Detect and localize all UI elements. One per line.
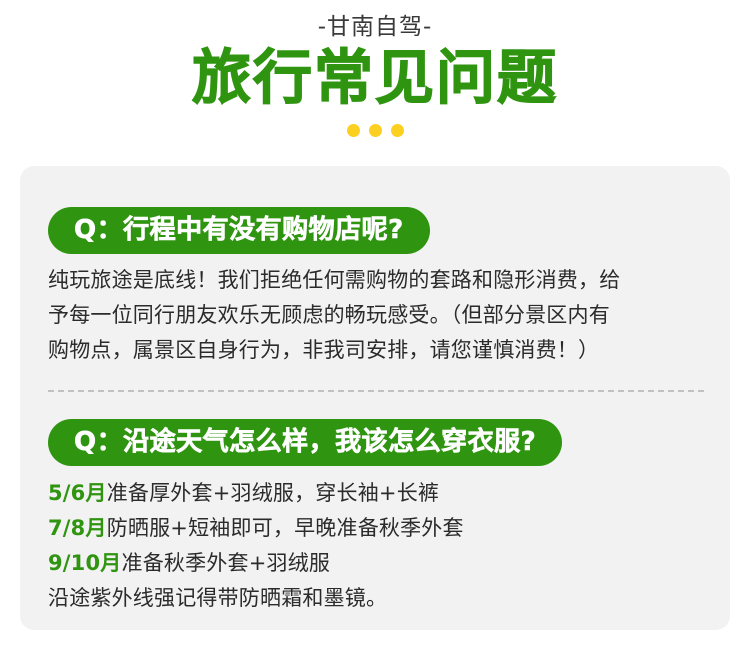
- answer-line: 购物点，属景区自身行为，非我司安排，请您谨慎消费！）: [48, 333, 708, 368]
- answer-line: 5/6月准备厚外套+羽绒服，穿长袖+长裤: [48, 476, 708, 511]
- section-divider: [48, 390, 704, 392]
- decorative-dots: [0, 124, 750, 137]
- page-title: 旅行常见问题: [0, 44, 750, 112]
- answer-line-text: 防晒服+短袖即可，早晚准备秋季外套: [107, 516, 464, 540]
- answer-line-text: 准备秋季外套+羽绒服: [122, 551, 331, 575]
- answer-text-2: 5/6月准备厚外套+羽绒服，穿长袖+长裤 7/8月防晒服+短袖即可，早晚准备秋季…: [48, 476, 708, 616]
- answer-line: 7/8月防晒服+短袖即可，早晚准备秋季外套: [48, 511, 708, 546]
- answer-month-label: 5/6月: [48, 481, 107, 505]
- dot-icon: [391, 124, 404, 137]
- dot-icon: [369, 124, 382, 137]
- dot-icon: [347, 124, 360, 137]
- question-pill-1[interactable]: Q：行程中有没有购物店呢?: [48, 207, 430, 254]
- answer-month-label: 9/10月: [48, 551, 122, 575]
- answer-month-label: 7/8月: [48, 516, 107, 540]
- answer-line: 纯玩旅途是底线！我们拒绝任何需购物的套路和隐形消费，给: [48, 263, 708, 298]
- answer-line: 予每一位同行朋友欢乐无顾虑的畅玩感受。（但部分景区内有: [48, 298, 708, 333]
- answer-text-1: 纯玩旅途是底线！我们拒绝任何需购物的套路和隐形消费，给 予每一位同行朋友欢乐无顾…: [48, 263, 708, 368]
- answer-line-text: 沿途紫外线强记得带防晒霜和墨镜。: [48, 586, 387, 610]
- answer-line: 沿途紫外线强记得带防晒霜和墨镜。: [48, 581, 708, 616]
- page-eyebrow: -甘南自驾-: [0, 12, 750, 42]
- question-pill-2[interactable]: Q：沿途天气怎么样，我该怎么穿衣服?: [48, 419, 562, 466]
- faq-card: Q：行程中有没有购物店呢? 纯玩旅途是底线！我们拒绝任何需购物的套路和隐形消费，…: [20, 166, 730, 630]
- answer-line-text: 纯玩旅途是底线！我们拒绝任何需购物的套路和隐形消费，给: [48, 268, 620, 292]
- answer-line-text: 准备厚外套+羽绒服，穿长袖+长裤: [107, 481, 439, 505]
- page-header: -甘南自驾- 旅行常见问题: [0, 0, 750, 137]
- answer-line: 9/10月准备秋季外套+羽绒服: [48, 546, 708, 581]
- answer-line-text: 予每一位同行朋友欢乐无顾虑的畅玩感受。（但部分景区内有: [48, 303, 610, 327]
- answer-line-text: 购物点，属景区自身行为，非我司安排，请您谨慎消费！）: [48, 338, 599, 362]
